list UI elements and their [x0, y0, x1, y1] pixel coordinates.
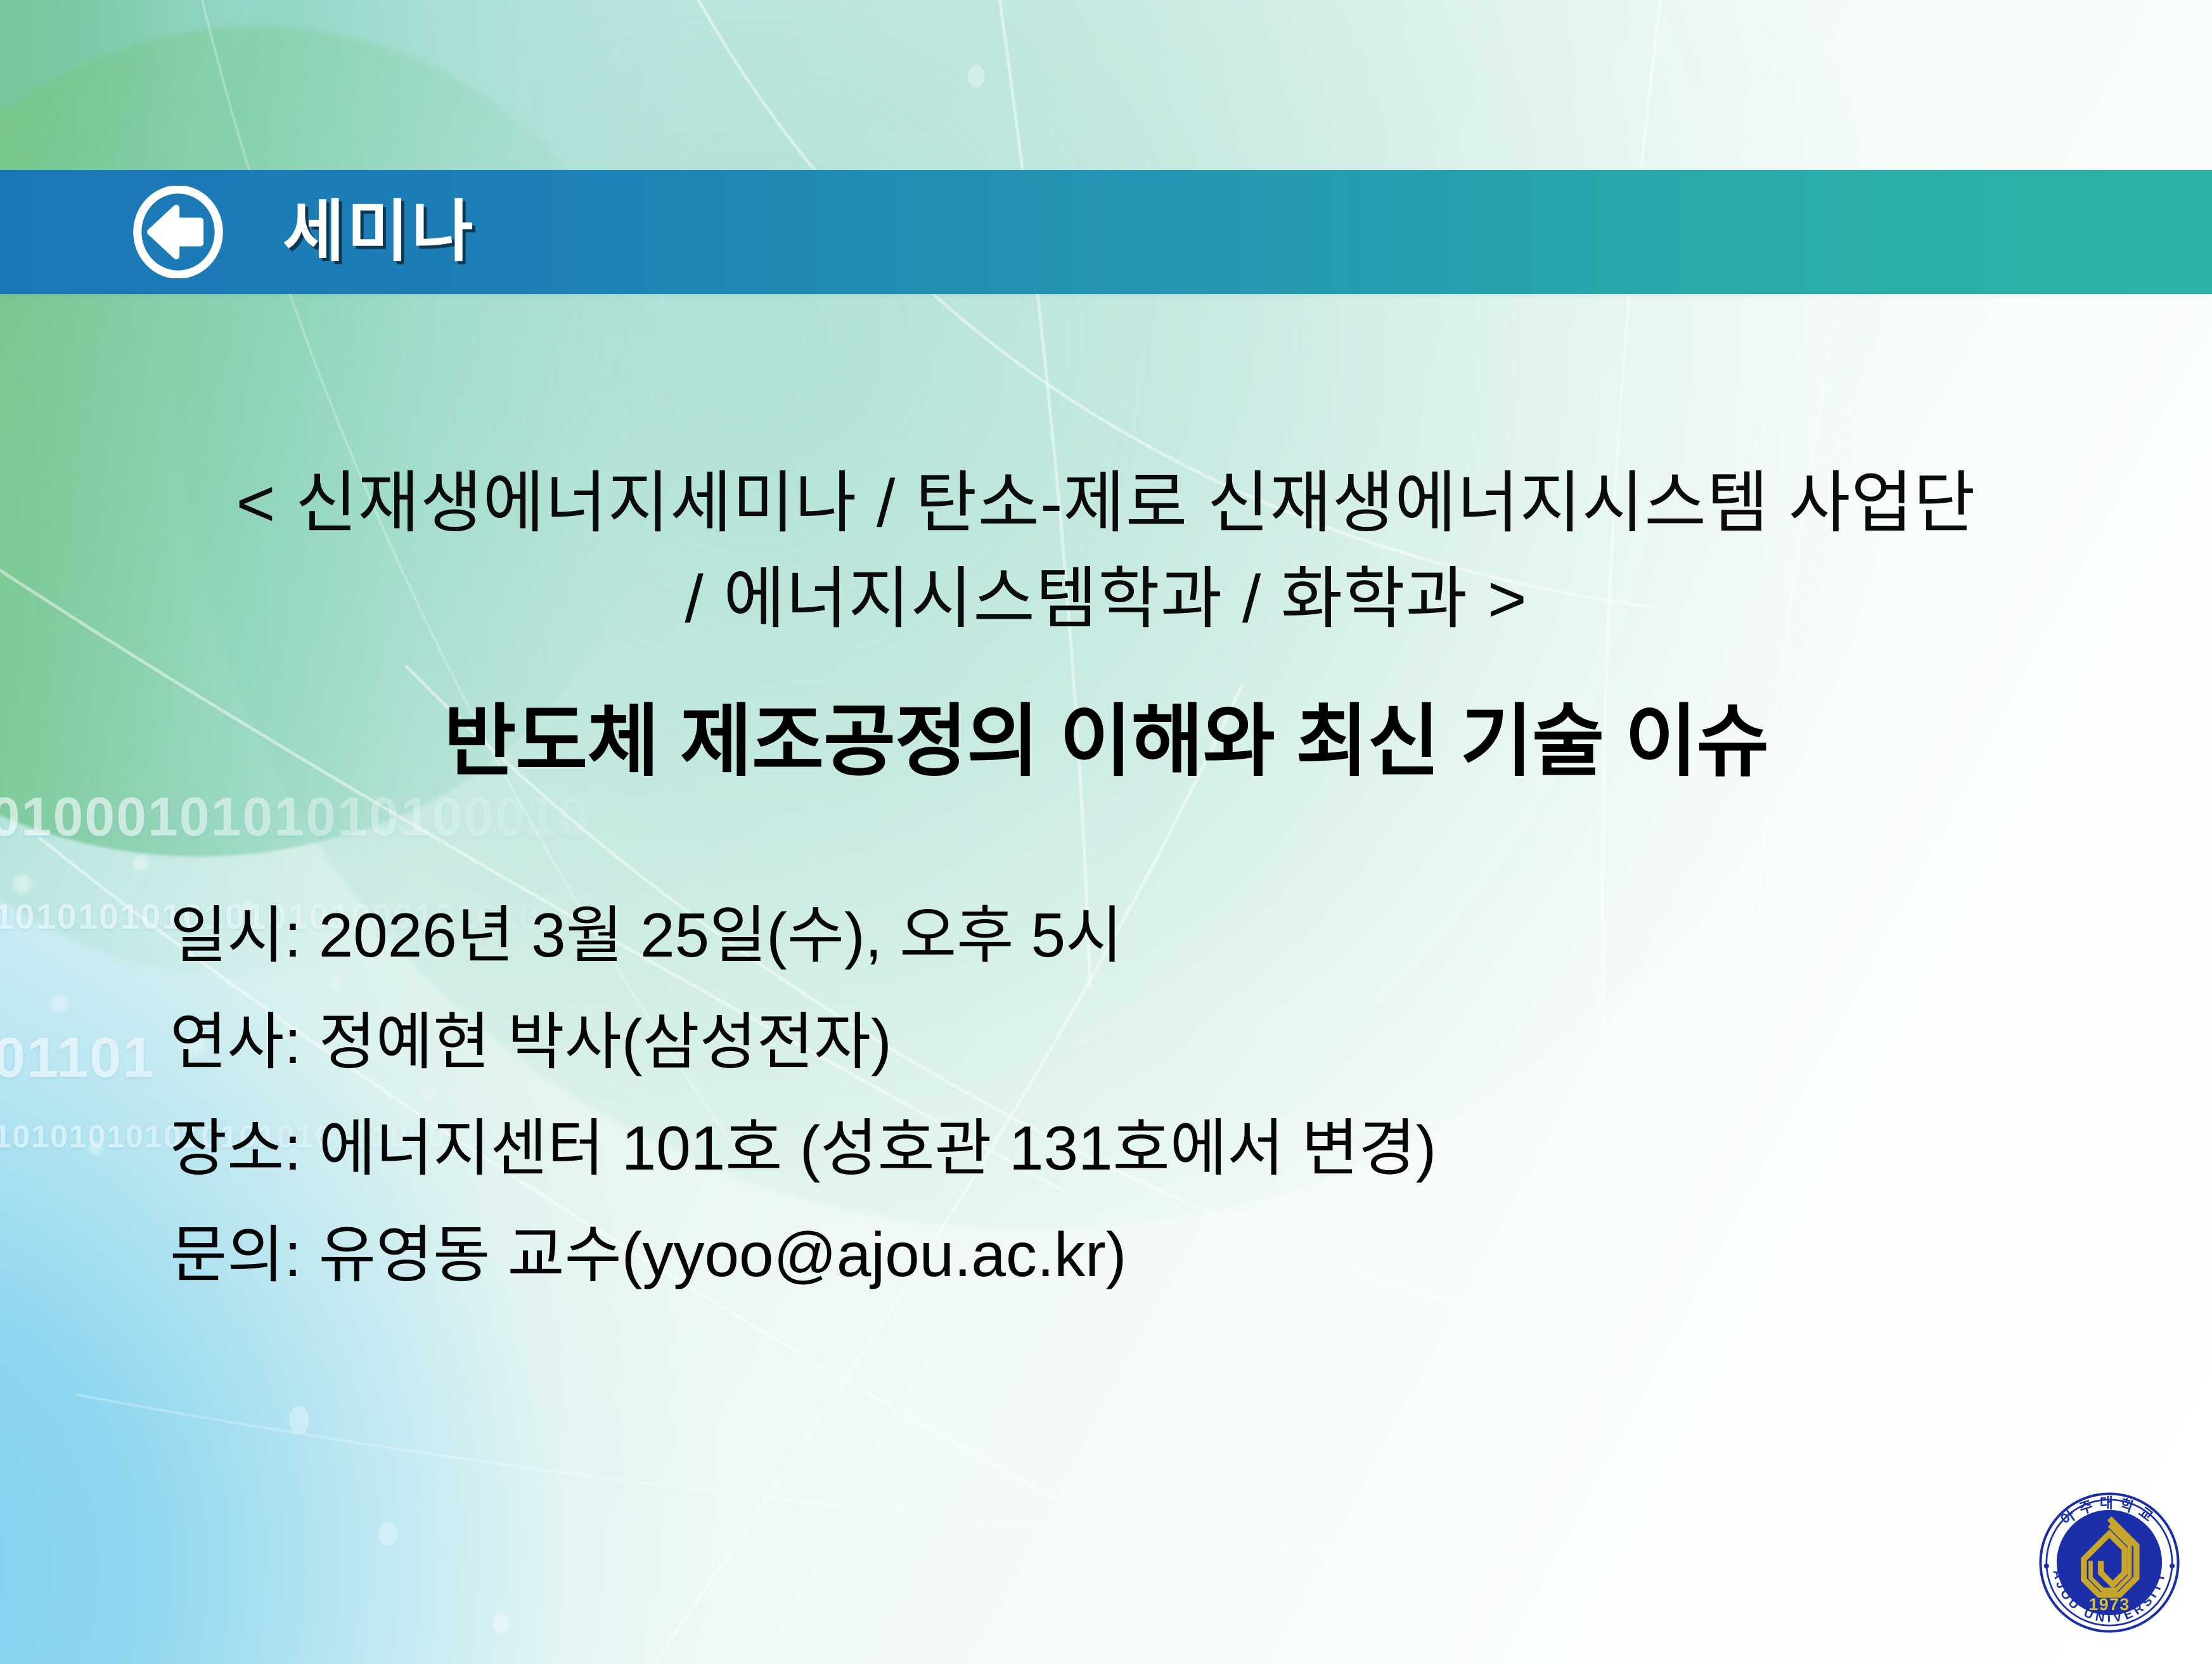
- detail-speaker: 연사: 정예현 박사(삼성전자): [170, 1010, 2008, 1073]
- seminar-main-title: 반도체 제조공정의 이해와 최신 기술 이슈: [0, 699, 2212, 785]
- seminar-header-bar: 세미나: [0, 170, 2212, 294]
- seminar-subtitle: < 신재생에너지세미나 / 탄소-제로 신재생에너지시스템 사업단 / 에너지시…: [0, 456, 2212, 647]
- subtitle-line-1: < 신재생에너지세미나 / 탄소-제로 신재생에너지시스템 사업단: [70, 456, 2142, 551]
- detail-datetime: 일시: 2026년 3월 25일(수), 오후 5시: [170, 904, 2008, 966]
- subtitle-line-2: / 에너지시스템학과 / 화학과 >: [70, 551, 2142, 647]
- seminar-poster-slide: 10100010101010100010 1010101010101010101…: [0, 0, 2212, 1664]
- detail-contact: 문의: 유영동 교수(yyoo@ajou.ac.kr): [170, 1223, 2008, 1286]
- detail-location: 장소: 에너지센터 101호 (성호관 131호에서 변경): [170, 1117, 2008, 1179]
- seminar-details-list: 일시: 2026년 3월 25일(수), 오후 5시 연사: 정예현 박사(삼성…: [170, 904, 2008, 1286]
- circle-arrow-left-icon[interactable]: [132, 186, 224, 278]
- slide-body: < 신재생에너지세미나 / 탄소-제로 신재생에너지시스템 사업단 / 에너지시…: [0, 294, 2212, 1664]
- ajou-university-logo: 1973 아주대학교 AJOU UNIVERSITY: [2024, 1478, 2194, 1648]
- header-title: 세미나: [283, 198, 476, 266]
